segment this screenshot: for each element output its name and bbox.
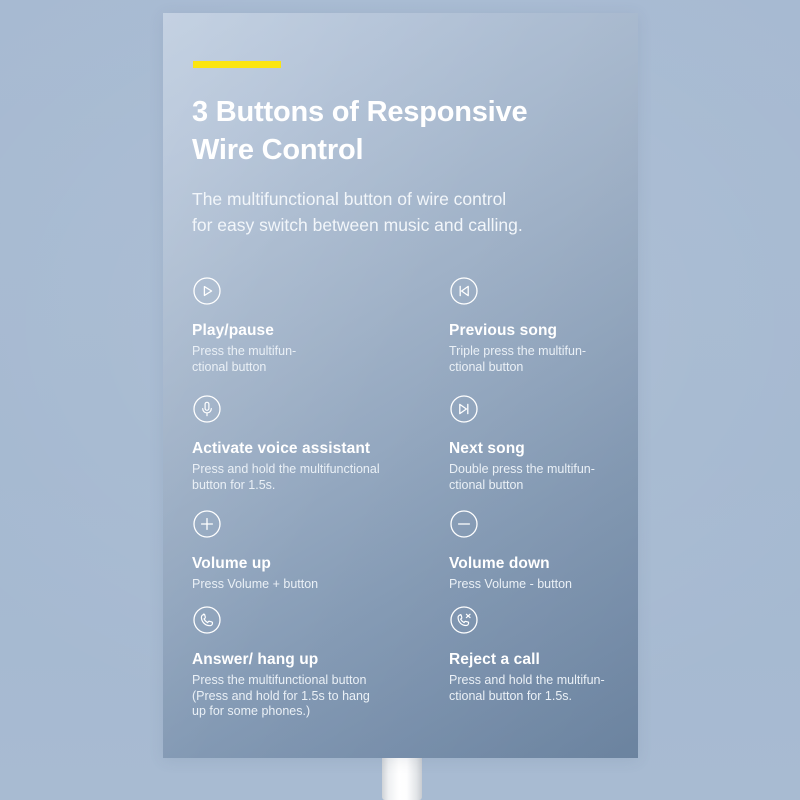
- feature-title: Previous song: [449, 321, 664, 341]
- plus-icon: [192, 509, 222, 539]
- feature-title: Activate voice assistant: [192, 439, 427, 459]
- feature-play-pause: Play/pause Press the multifun- ctional b…: [192, 276, 407, 375]
- previous-song-icon: [449, 276, 479, 306]
- microphone-icon: [192, 394, 222, 424]
- feature-description: Press Volume - button: [449, 577, 664, 593]
- feature-voice-assistant: Activate voice assistant Press and hold …: [192, 394, 427, 493]
- yellow-accent-bar: [193, 61, 281, 68]
- feature-title: Play/pause: [192, 321, 407, 341]
- feature-reject-call: Reject a call Press and hold the multifu…: [449, 605, 664, 704]
- page-title: 3 Buttons of ResponsiveWire Control: [192, 93, 612, 169]
- page-subtitle-line-1: The multifunctional button of wire contr…: [192, 189, 506, 209]
- feature-title: Volume down: [449, 554, 664, 574]
- play-pause-icon: [192, 276, 222, 306]
- page-subtitle: The multifunctional button of wire contr…: [192, 186, 622, 238]
- feature-description: Triple press the multifun- ctional butto…: [449, 344, 664, 375]
- feature-previous-song: Previous song Triple press the multifun-…: [449, 276, 664, 375]
- feature-title: Next song: [449, 439, 664, 459]
- phone-reject-icon: [449, 605, 479, 635]
- phone-answer-icon: [192, 605, 222, 635]
- feature-description: Press the multifun- ctional button: [192, 344, 407, 375]
- feature-description: Double press the multifun- ctional butto…: [449, 462, 664, 493]
- screenshot-stage: 3 Buttons of ResponsiveWire Control The …: [0, 0, 800, 800]
- feature-next-song: Next song Double press the multifun- cti…: [449, 394, 664, 493]
- earbud-stem: [382, 752, 422, 800]
- feature-volume-up: Volume up Press Volume + button: [192, 509, 407, 593]
- feature-description: Press the multifunctional button (Press …: [192, 673, 422, 720]
- minus-icon: [449, 509, 479, 539]
- feature-answer-hangup: Answer/ hang up Press the multifunctiona…: [192, 605, 422, 720]
- feature-description: Press Volume + button: [192, 577, 407, 593]
- feature-volume-down: Volume down Press Volume - button: [449, 509, 664, 593]
- feature-title: Volume up: [192, 554, 407, 574]
- next-song-icon: [449, 394, 479, 424]
- feature-title: Answer/ hang up: [192, 650, 422, 670]
- page-title-line-2: Wire Control: [192, 134, 363, 166]
- page-subtitle-line-2: for easy switch between music and callin…: [192, 215, 523, 235]
- card-content: 3 Buttons of ResponsiveWire Control The …: [163, 13, 638, 758]
- feature-description: Press and hold the multifunctional butto…: [192, 462, 427, 493]
- product-info-card: 3 Buttons of ResponsiveWire Control The …: [163, 13, 638, 758]
- feature-title: Reject a call: [449, 650, 664, 670]
- feature-description: Press and hold the multifun- ctional but…: [449, 673, 664, 704]
- page-title-line-1: 3 Buttons of Responsive: [192, 96, 527, 128]
